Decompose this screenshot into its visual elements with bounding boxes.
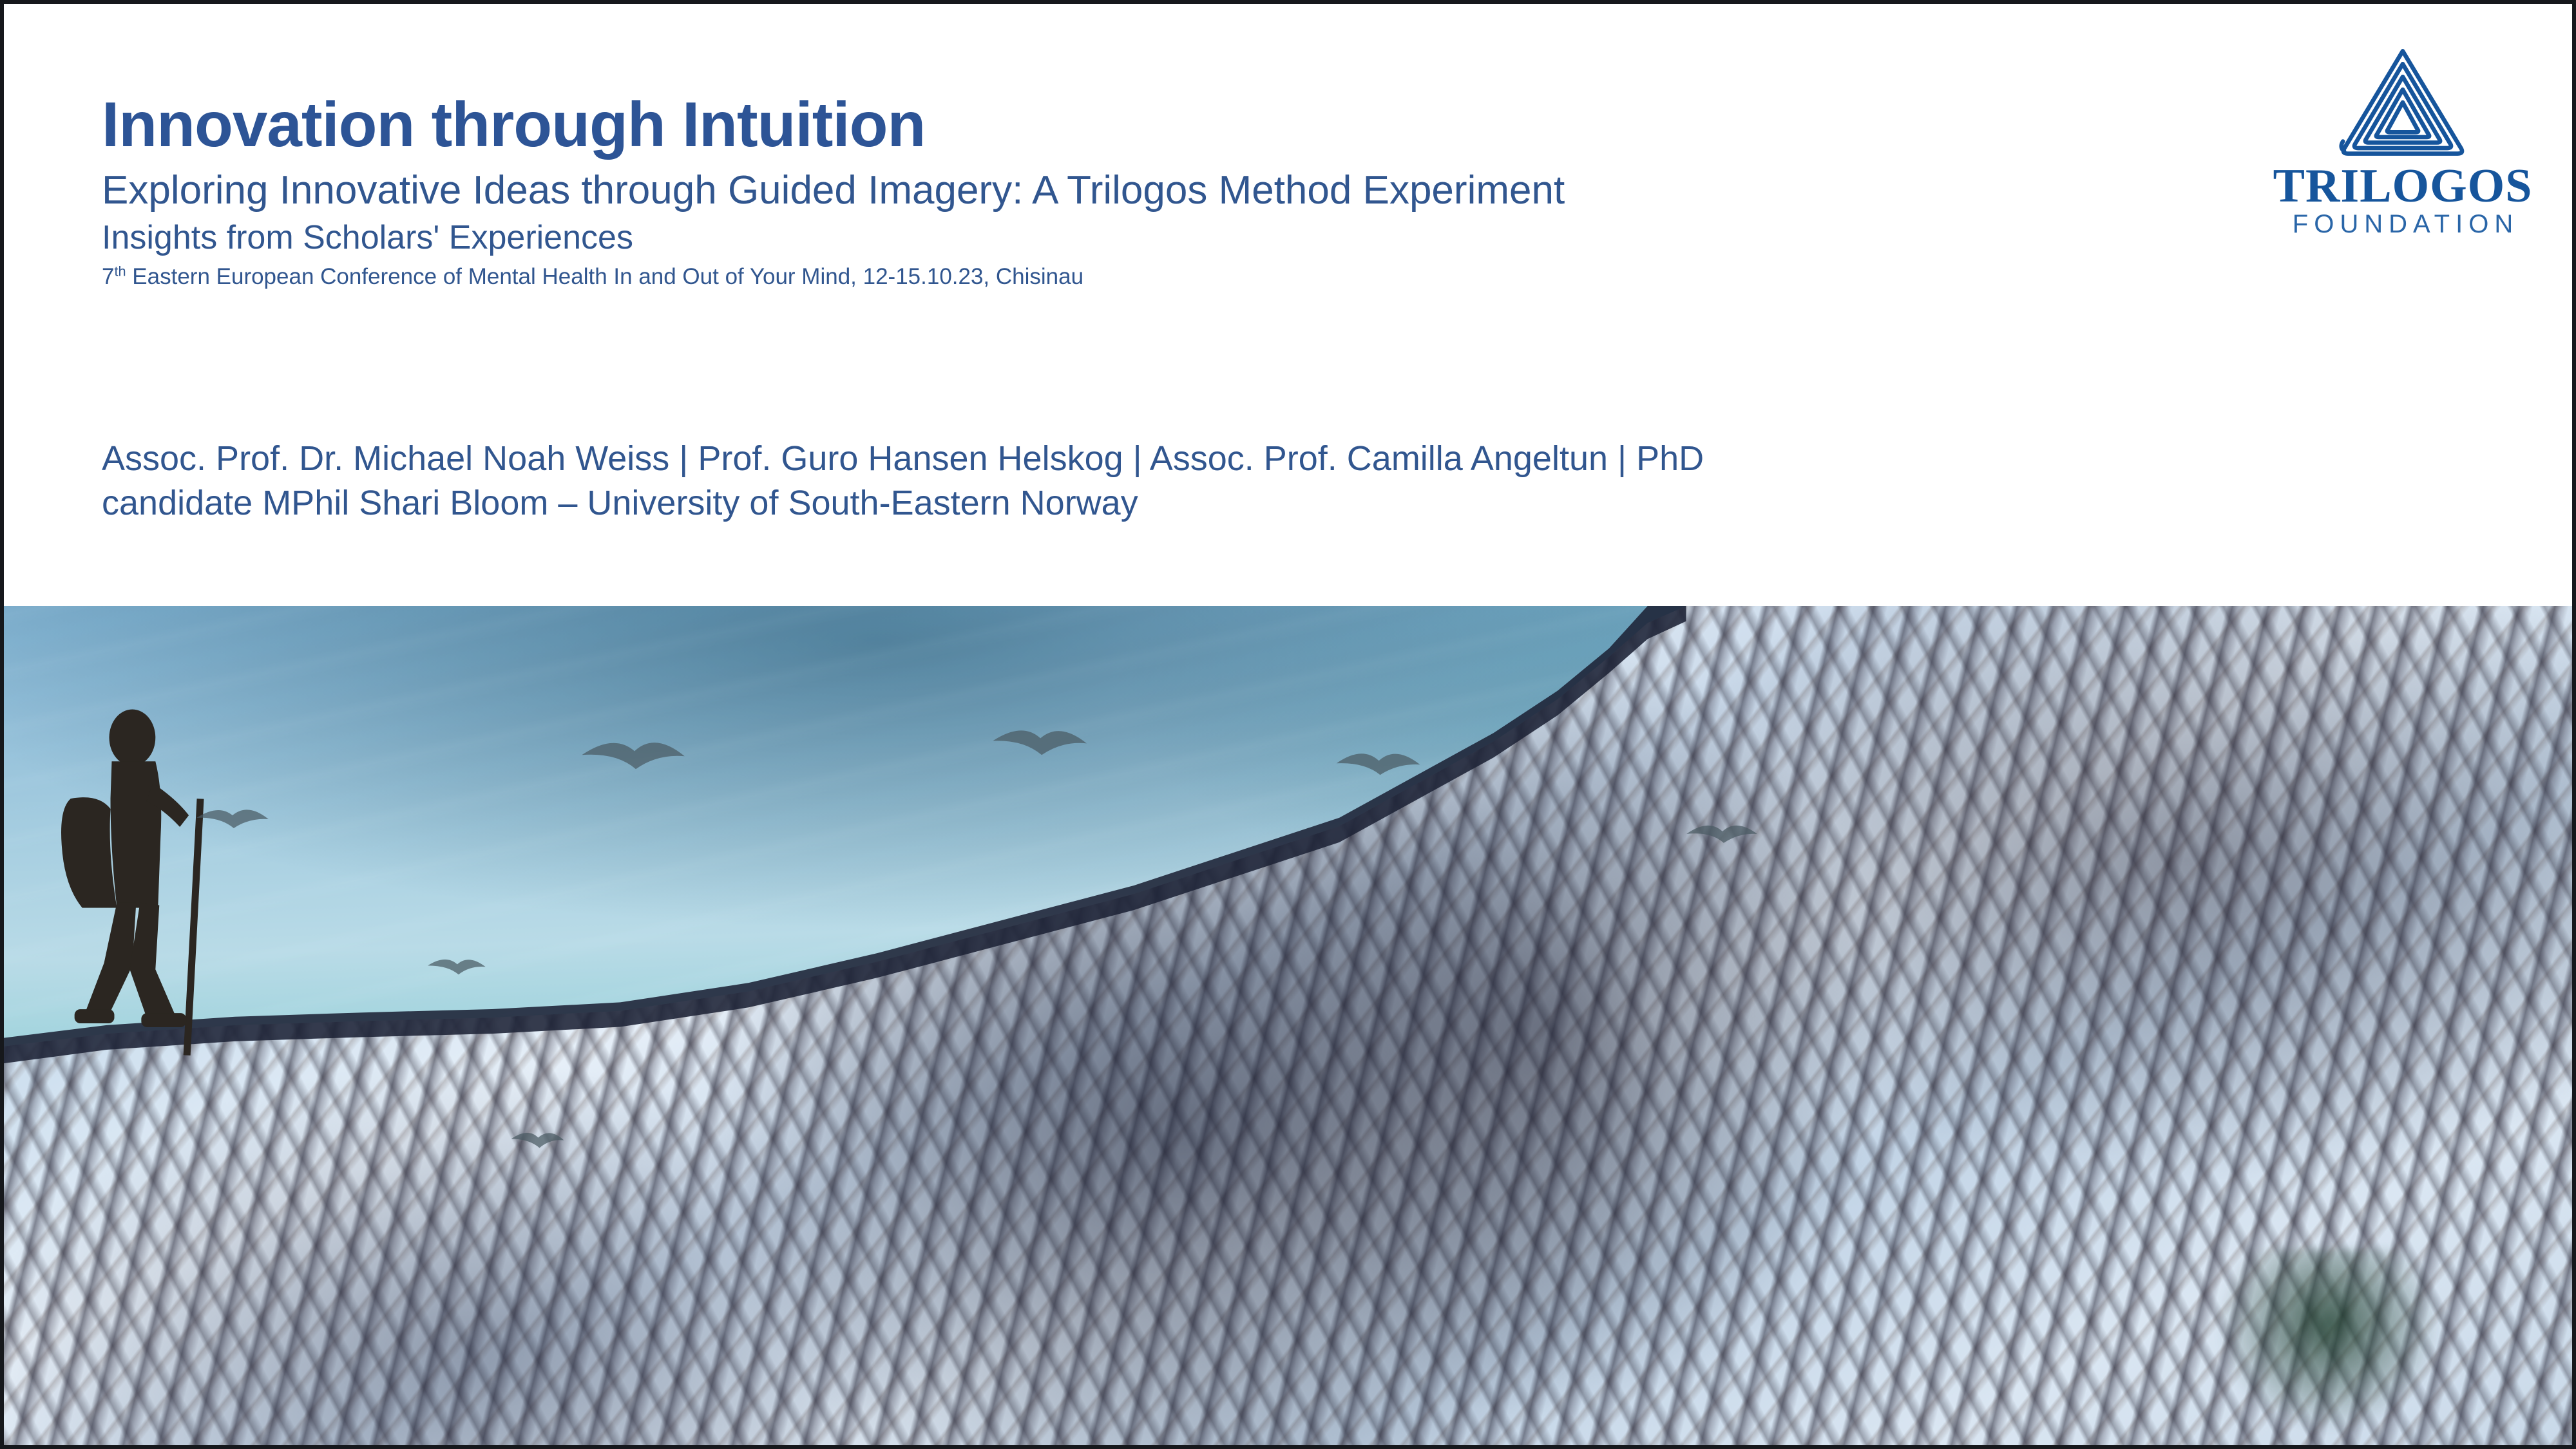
trilogos-foundation-logo: TRILOGOS FOUNDATION — [2264, 44, 2541, 239]
authors-line-1: Assoc. Prof. Dr. Michael Noah Weiss | Pr… — [102, 437, 2343, 481]
slide-background-photo — [4, 606, 2572, 1449]
conference-ordinal-number: 7 — [102, 264, 114, 289]
nested-triangle-spiral-icon — [2335, 44, 2470, 160]
presentation-slide: Innovation through Intuition Exploring I… — [0, 0, 2576, 1449]
slide-subtitle-secondary: Insights from Scholars' Experiences — [102, 221, 2163, 255]
conference-ordinal-suffix: th — [114, 263, 126, 279]
slide-header: Innovation through Intuition Exploring I… — [4, 4, 2572, 606]
authors-line-2: candidate MPhil Shari Bloom – University… — [102, 481, 2343, 526]
logo-wordmark: TRILOGOS — [2264, 164, 2541, 209]
conifer-patch — [2213, 1249, 2444, 1435]
logo-subtitle: FOUNDATION — [2264, 209, 2541, 239]
authors-block: Assoc. Prof. Dr. Michael Noah Weiss | Pr… — [102, 437, 2343, 526]
conference-line: 7th Eastern European Conference of Menta… — [102, 265, 2163, 289]
title-block: Innovation through Intuition Exploring I… — [102, 93, 2163, 289]
page-title: Innovation through Intuition — [102, 93, 2163, 156]
conference-text: Eastern European Conference of Mental He… — [126, 264, 1084, 289]
slide-subtitle-primary: Exploring Innovative Ideas through Guide… — [102, 170, 2163, 211]
